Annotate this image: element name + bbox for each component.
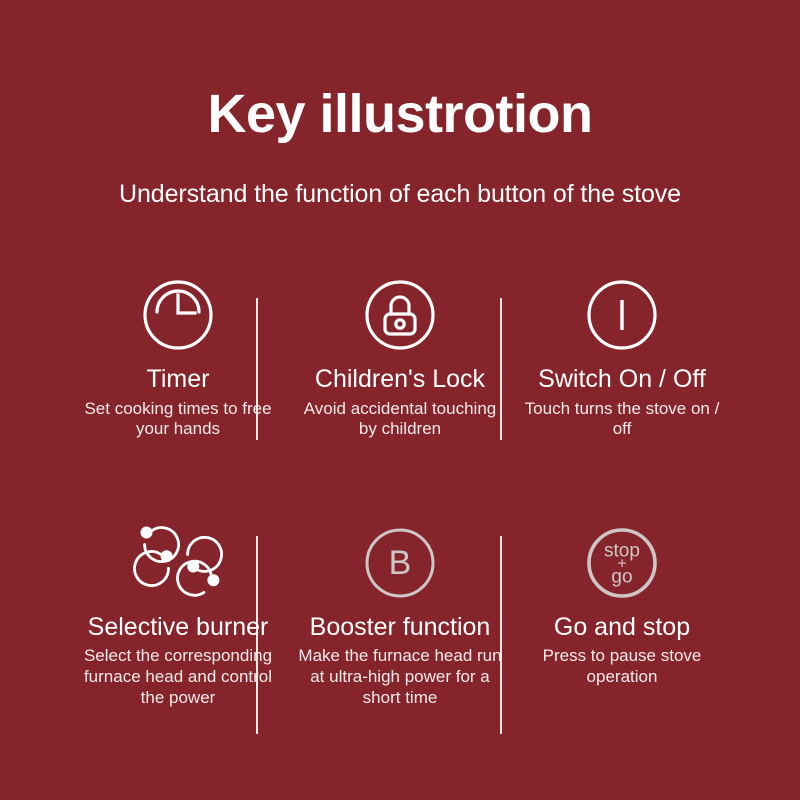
feature-title: Booster function	[295, 608, 505, 642]
go-label: go	[611, 566, 632, 587]
feature-description: Press to pause stove operation	[517, 641, 727, 687]
feature-go-and-stop[interactable]: stop + go Go and stop Press to pause sto…	[511, 518, 733, 688]
stop-go-icon: stop + go	[517, 518, 727, 608]
booster-letter: B	[389, 544, 412, 582]
feature-row-2: Selective burner Select the correspondin…	[0, 518, 800, 709]
feature-title: Timer	[73, 360, 283, 394]
feature-childrens-lock[interactable]: Children's Lock Avoid accidental touchin…	[289, 270, 511, 440]
padlock-icon	[295, 270, 505, 360]
feature-timer[interactable]: Timer Set cooking times to free your han…	[67, 270, 289, 440]
feature-title: Go and stop	[517, 608, 727, 642]
feature-description: Touch turns the stove on / off	[517, 394, 727, 440]
feature-row-1: Timer Set cooking times to free your han…	[0, 270, 800, 440]
feature-description: Make the furnace head run at ultra-high …	[295, 641, 505, 708]
feature-title: Selective burner	[73, 608, 283, 642]
feature-description: Set cooking times to free your hands	[73, 394, 283, 440]
header: Key illustrotion Understand the function…	[0, 0, 800, 209]
feature-switch-on-off[interactable]: Switch On / Off Touch turns the stove on…	[511, 270, 733, 440]
feature-grid: Timer Set cooking times to free your han…	[0, 270, 800, 709]
feature-title: Switch On / Off	[517, 360, 727, 394]
key-illustration-poster: Key illustrotion Understand the function…	[0, 0, 800, 800]
feature-booster-function[interactable]: B Booster function Make the furnace head…	[289, 518, 511, 709]
feature-title: Children's Lock	[295, 360, 505, 394]
feature-description: Avoid accidental touching by children	[295, 394, 505, 440]
page-subtitle: Understand the function of each button o…	[0, 143, 800, 209]
page-title: Key illustrotion	[0, 86, 800, 143]
feature-description: Select the corresponding furnace head an…	[73, 641, 283, 708]
four-burners-icon	[73, 518, 283, 608]
feature-selective-burner[interactable]: Selective burner Select the correspondin…	[67, 518, 289, 709]
timer-icon	[73, 270, 283, 360]
booster-b-icon: B	[295, 518, 505, 608]
power-icon	[517, 270, 727, 360]
